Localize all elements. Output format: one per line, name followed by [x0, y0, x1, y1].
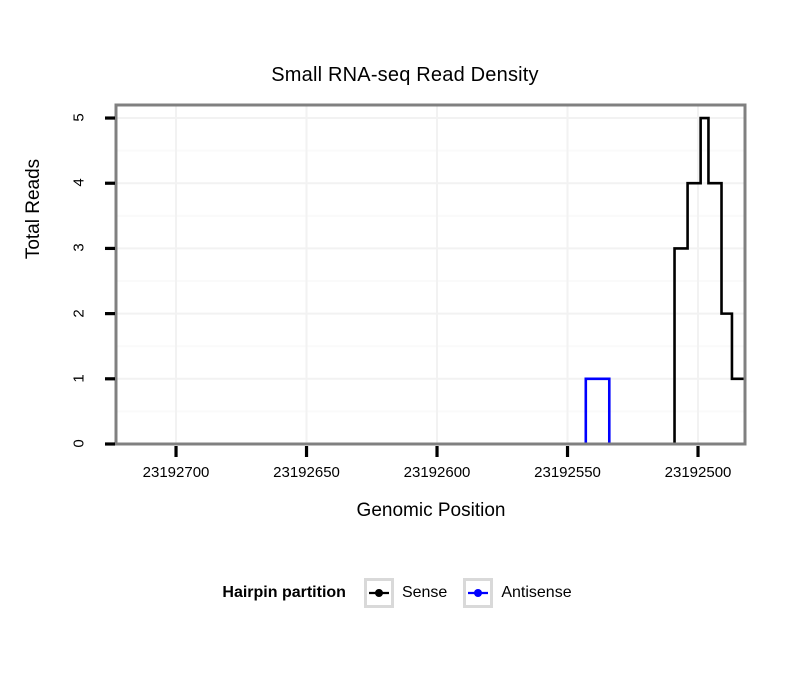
legend-item-antisense[interactable]: Antisense	[463, 578, 571, 608]
legend-key-antisense	[463, 578, 493, 608]
legend: Hairpin partition Sense Antisense	[0, 578, 810, 608]
y-tick-label: 1	[71, 358, 88, 398]
y-tick-label: 2	[71, 293, 88, 333]
legend-title: Hairpin partition	[222, 584, 346, 602]
panel-background	[116, 105, 745, 444]
line-point-icon	[467, 583, 489, 603]
x-tick-label: 23192600	[377, 464, 497, 481]
chart-root: Small RNA-seq Read Density Total Reads G…	[0, 0, 810, 690]
legend-item-sense[interactable]: Sense	[364, 578, 447, 608]
x-tick-label: 23192700	[116, 464, 236, 481]
y-tick-label: 3	[71, 228, 88, 268]
legend-label-sense: Sense	[402, 584, 447, 602]
line-point-icon	[368, 583, 390, 603]
legend-label-antisense: Antisense	[501, 584, 571, 602]
y-tick-label: 0	[71, 424, 88, 464]
x-tick-label: 23192650	[247, 464, 367, 481]
x-tick-label: 23192500	[638, 464, 758, 481]
legend-key-sense	[364, 578, 394, 608]
y-tick-label: 4	[71, 163, 88, 203]
y-tick-label: 5	[71, 98, 88, 138]
x-tick-label: 23192550	[508, 464, 628, 481]
